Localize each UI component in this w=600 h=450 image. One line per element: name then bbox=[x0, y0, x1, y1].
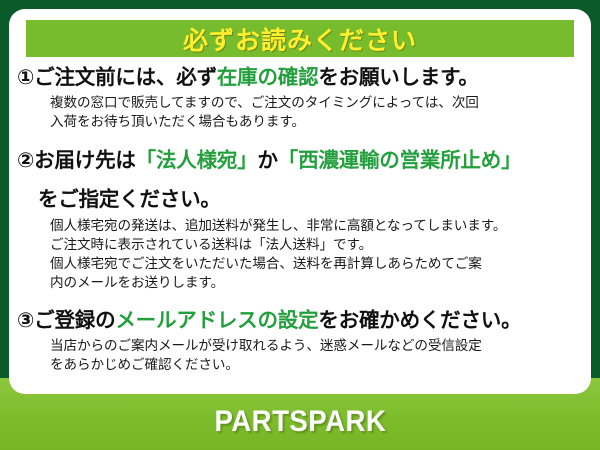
heading-text: をお確かめください。 bbox=[318, 309, 521, 332]
notice-item-body: 当店からのご案内メールが受け取れるよう、迷惑メールなどの受信設定をあらかじめご確… bbox=[9, 333, 591, 375]
notice-item: ①ご注文前には、必ず在庫の確認をお願いします。複数の窓口で販売してますので、ご注… bbox=[9, 65, 591, 132]
heading-text: をお願いします。 bbox=[318, 66, 478, 89]
highlighted-phrase: メールアドレスの設定 bbox=[115, 309, 318, 332]
notice-item-body: 複数の窓口で販売してますので、ご注文のタイミングによっては、次回入荷をお待ち頂い… bbox=[9, 90, 591, 132]
body-line: をあらかじめご確認ください。 bbox=[50, 355, 581, 374]
brand-name: PARTSPARK bbox=[214, 405, 386, 439]
body-line: 個人様宅宛の発送は、追加送料が発生し、非常に高額となってしまいます。 bbox=[50, 216, 581, 235]
notice-item: ②お届け先は「法人様宛」か「西濃運輸の営業所止め」をご指定ください。個人様宅宛の… bbox=[9, 134, 591, 293]
notice-item: ③ご登録のメールアドレスの設定をお確かめください。当店からのご案内メールが受け取… bbox=[9, 295, 591, 375]
notice-card: 必ずお読みください ①ご注文前には、必ず在庫の確認をお願いします。複数の窓口で販… bbox=[9, 9, 591, 394]
body-line: 当店からのご案内メールが受け取れるよう、迷惑メールなどの受信設定 bbox=[50, 336, 581, 355]
notice-item-heading: ②お届け先は「法人様宛」か「西濃運輸の営業所止め」 bbox=[9, 134, 591, 173]
item-number-marker: ③ bbox=[17, 309, 34, 332]
body-line: ご注文時に表示されている送料は「法人送料」です。 bbox=[50, 235, 581, 254]
heading-text: お届け先は bbox=[34, 149, 136, 172]
notice-item-heading: ①ご注文前には、必ず在庫の確認をお願いします。 bbox=[9, 65, 591, 90]
heading-text: か bbox=[257, 149, 277, 172]
highlighted-phrase: 「西濃運輸の営業所止め」 bbox=[278, 149, 522, 172]
item-number-marker: ① bbox=[17, 66, 34, 89]
notice-title: 必ずお読みください bbox=[183, 21, 417, 57]
notice-item-body: 個人様宅宛の発送は、追加送料が発生し、非常に高額となってしまいます。ご注文時に表… bbox=[9, 212, 591, 293]
item-number-marker: ② bbox=[17, 149, 34, 172]
title-banner: 必ずお読みください bbox=[26, 20, 574, 57]
notice-items-list: ①ご注文前には、必ず在庫の確認をお願いします。複数の窓口で販売してますので、ご注… bbox=[9, 65, 591, 376]
highlighted-phrase: 「法人様宛」 bbox=[136, 149, 258, 172]
highlighted-phrase: 在庫の確認 bbox=[217, 66, 319, 89]
body-line: 複数の窓口で販売してますので、ご注文のタイミングによっては、次回 bbox=[50, 93, 581, 112]
heading-text: ご注文前には、必ず bbox=[34, 66, 217, 89]
body-line: 内のメールをお送りします。 bbox=[50, 273, 581, 292]
brand-footer: PARTSPARK bbox=[0, 394, 600, 450]
body-line: 個人様宅宛でご注文をいただいた場合、送料を再計算しあらためてご案 bbox=[50, 254, 581, 273]
notice-frame: 必ずお読みください ①ご注文前には、必ず在庫の確認をお願いします。複数の窓口で販… bbox=[0, 0, 600, 450]
notice-item-heading-line2: をご指定ください。 bbox=[9, 173, 591, 212]
body-line: 入荷をお待ち頂いただく場合もあります。 bbox=[50, 112, 581, 131]
heading-text: ご登録の bbox=[34, 309, 115, 332]
notice-item-heading: ③ご登録のメールアドレスの設定をお確かめください。 bbox=[9, 295, 591, 333]
